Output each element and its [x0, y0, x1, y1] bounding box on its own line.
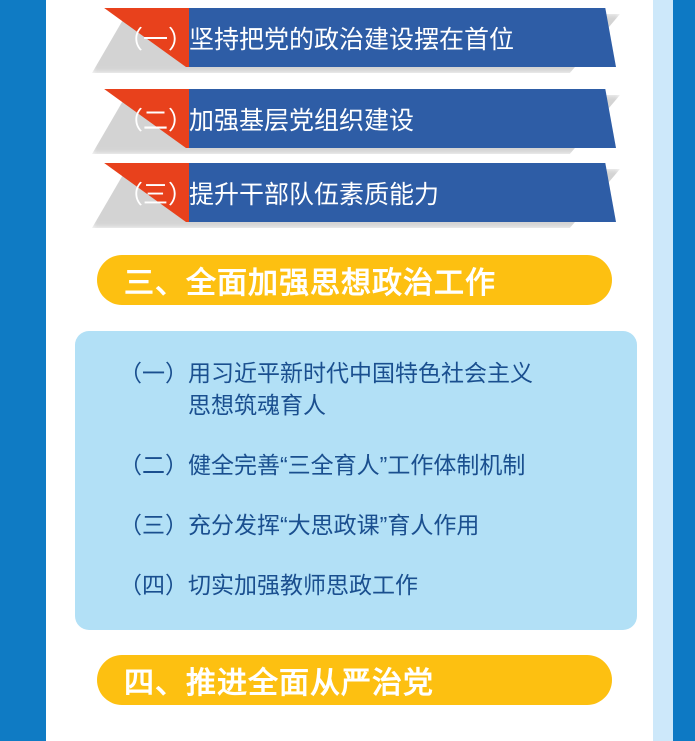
section-three-heading-text: 三、全面加强思想政治工作 [124, 258, 496, 302]
arrow-banner-3[interactable]: （三） 提升干部队伍素质能力 [46, 163, 653, 223]
right-light-blue-rail [653, 0, 673, 741]
arrow-banner-1-number: （一） [118, 8, 193, 67]
infographic-page: （一） 坚持把党的政治建设摆在首位 （二） 加强基层党组织建设 （三） 提升干部… [0, 0, 695, 741]
list-item[interactable]: （四）切实加强教师思政工作 [119, 569, 615, 601]
arrow-banner-3-number: （三） [118, 163, 193, 222]
section-four-heading-text: 四、推进全面从严治党 [124, 658, 434, 702]
arrow-banner-1-label: 坚持把党的政治建设摆在首位 [189, 8, 514, 67]
arrow-banner-1[interactable]: （一） 坚持把党的政治建设摆在首位 [46, 8, 653, 68]
list-item[interactable]: （三）充分发挥“大思政课”育人作用 [119, 509, 615, 541]
content-column: （一） 坚持把党的政治建设摆在首位 （二） 加强基层党组织建设 （三） 提升干部… [46, 0, 653, 741]
section-four-heading-pill[interactable]: 四、推进全面从严治党 [97, 655, 612, 705]
arrow-banner-2-number: （二） [118, 89, 193, 148]
list-item[interactable]: （一）用习近平新时代中国特色社会主义 思想筑魂育人 [119, 357, 615, 421]
right-blue-rail [673, 0, 695, 741]
arrow-banner-3-label: 提升干部队伍素质能力 [189, 163, 439, 222]
left-blue-rail [0, 0, 46, 741]
arrow-banner-2[interactable]: （二） 加强基层党组织建设 [46, 89, 653, 149]
arrow-banner-2-label: 加强基层党组织建设 [189, 89, 414, 148]
list-item[interactable]: （二）健全完善“三全育人”工作体制机制 [119, 449, 615, 481]
section-three-items-panel: （一）用习近平新时代中国特色社会主义 思想筑魂育人 （二）健全完善“三全育人”工… [75, 331, 637, 630]
section-three-heading-pill[interactable]: 三、全面加强思想政治工作 [97, 255, 612, 305]
